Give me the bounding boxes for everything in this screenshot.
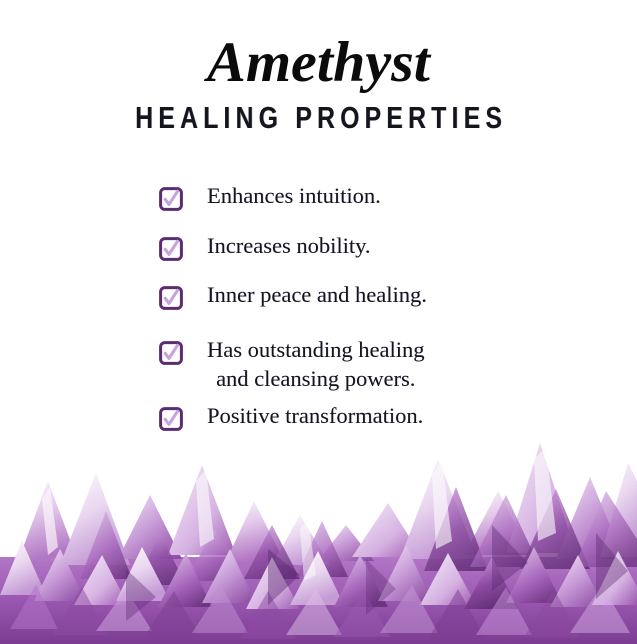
amethyst-healing-properties-poster: Amethyst HEALING PROPERTIES Enhances int…: [0, 0, 637, 644]
poster-header: Amethyst HEALING PROPERTIES: [0, 0, 637, 133]
checked-checkbox-icon: [159, 341, 183, 365]
checked-checkbox-icon: [159, 407, 183, 431]
list-item: Increases nobility.: [0, 232, 637, 261]
list-item-label: Positive transformation.: [207, 402, 423, 431]
page-subtitle: HEALING PROPERTIES: [64, 102, 574, 133]
page-title: Amethyst: [0, 34, 637, 92]
amethyst-crystal-cluster-photo: [0, 429, 637, 644]
list-item-label: Has outstanding healing and cleansing po…: [207, 336, 424, 393]
list-item: Positive transformation.: [0, 402, 637, 431]
list-item-label: Increases nobility.: [207, 232, 371, 261]
healing-properties-list: Enhances intuition. Increases nobility. …: [0, 182, 637, 431]
checked-checkbox-icon: [159, 286, 183, 310]
list-item: Inner peace and healing.: [0, 281, 637, 310]
list-item: Enhances intuition.: [0, 182, 637, 211]
list-item-label: Enhances intuition.: [207, 182, 381, 211]
list-item: Has outstanding healing and cleansing po…: [0, 336, 637, 393]
checked-checkbox-icon: [159, 187, 183, 211]
list-item-label: Inner peace and healing.: [207, 281, 427, 310]
checked-checkbox-icon: [159, 237, 183, 261]
